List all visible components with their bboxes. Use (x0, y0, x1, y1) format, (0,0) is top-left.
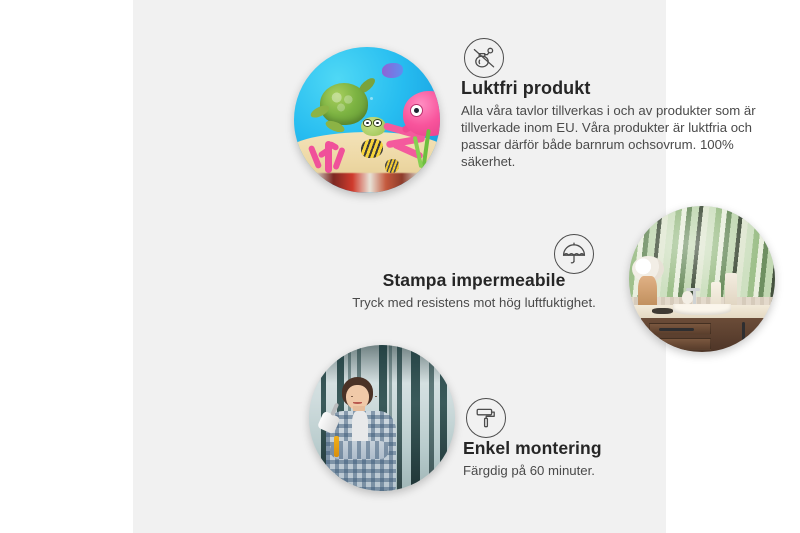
painter-forest-photo (309, 345, 455, 491)
feature-heading: Luktfri produkt (461, 78, 761, 99)
soap-tray (652, 308, 672, 314)
feature-text-montering: Enkel montering Färgdig på 60 minuter. (463, 438, 693, 479)
fish-icon (385, 159, 400, 172)
feature-text-impermeabile: Stampa impermeabile Tryck med resistens … (349, 270, 599, 311)
painter-person (321, 377, 403, 491)
octopus-icon (385, 91, 440, 158)
coral-icon (303, 120, 353, 173)
tool-handle (334, 436, 340, 456)
umbrella-icon (554, 234, 594, 274)
feature-body: Färgdig på 60 minuter. (463, 462, 693, 479)
content-panel: Luktfri produkt Alla våra tavlor tillver… (133, 0, 666, 533)
vanity-cabinet (641, 318, 775, 352)
fish-icon (382, 63, 404, 78)
photo-bottom-strip (294, 173, 440, 193)
feature-body: Tryck med resistens mot hög luftfuktighe… (349, 294, 599, 311)
screenshot-stage: Luktfri produkt Alla våra tavlor tillver… (0, 0, 800, 533)
feature-heading: Enkel montering (463, 438, 693, 459)
underwater-cartoon-photo (294, 47, 440, 193)
feature-heading: Stampa impermeabile (349, 270, 599, 291)
bathroom-wallpaper-photo (629, 206, 775, 352)
paint-roller-icon (466, 398, 506, 438)
no-fragrance-icon (464, 38, 504, 78)
towel-roll (682, 291, 694, 304)
fish-icon (361, 139, 383, 158)
sink-basin (673, 304, 731, 316)
feature-body: Alla våra tavlor tillverkas i och av pro… (461, 102, 761, 171)
feature-text-luktfri: Luktfri produkt Alla våra tavlor tillver… (461, 78, 761, 171)
